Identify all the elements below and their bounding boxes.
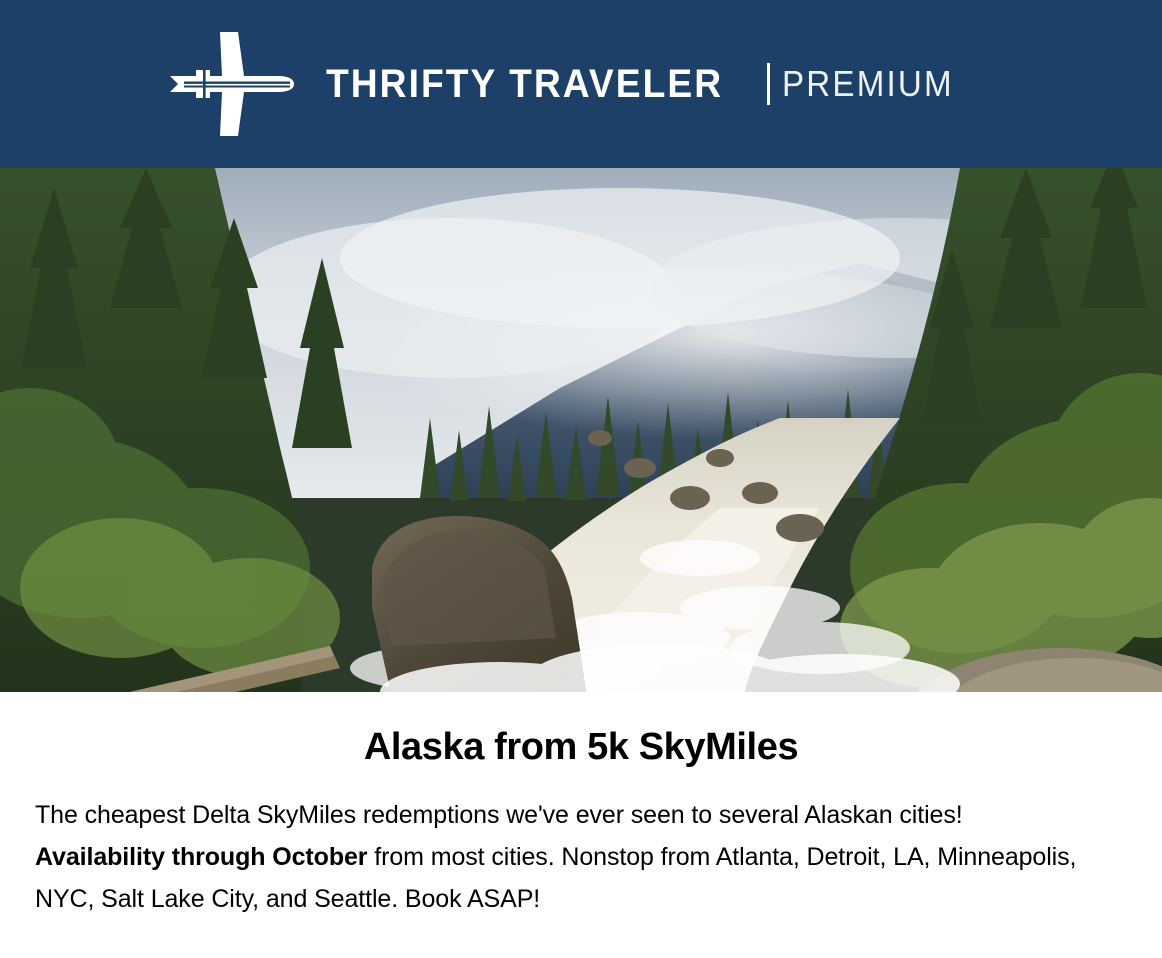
brand-tier-text: PREMIUM: [782, 66, 954, 102]
page-title: Alaska from 5k SkyMiles: [0, 692, 1162, 770]
brand-header: THRIFTY TRAVELER PREMIUM: [0, 0, 1162, 168]
brand-name-text: THRIFTY TRAVELER: [326, 64, 723, 104]
email-newsletter: THRIFTY TRAVELER PREMIUM: [0, 0, 1162, 958]
brand-wordmark: THRIFTY TRAVELER PREMIUM: [326, 63, 969, 105]
brand-divider: [767, 63, 770, 105]
airplane-logo-icon: [170, 32, 302, 136]
body-emphasis: Availability through October: [35, 843, 367, 871]
brand-lockup[interactable]: THRIFTY TRAVELER PREMIUM: [170, 32, 969, 136]
body-line-one: The cheapest Delta SkyMiles redemptions …: [35, 801, 963, 829]
article-body-text: The cheapest Delta SkyMiles redemptions …: [0, 770, 1162, 920]
article-section: Alaska from 5k SkyMiles The cheapest Del…: [0, 692, 1162, 958]
alaska-river-forest-photo: [0, 168, 1162, 692]
